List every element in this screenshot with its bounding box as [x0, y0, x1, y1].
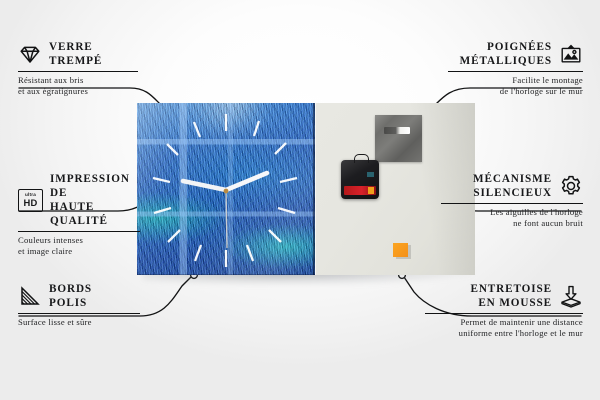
feature-divider: [18, 313, 140, 314]
feature-foam-spacer: ENTRETOISE EN MOUSSE Permet de maintenir…: [425, 282, 583, 338]
feature-high-quality-print: ultra HD IMPRESSION DE HAUTE QUALITÉ Cou…: [18, 172, 140, 256]
feature-description: Les aiguilles de l'horloge ne font aucun…: [441, 207, 583, 228]
feature-title: VERRE TREMPÉ: [49, 40, 102, 68]
feature-divider: [448, 71, 583, 72]
feature-tempered-glass: VERRE TREMPÉ Résistant aux bris et aux é…: [18, 40, 138, 96]
feature-title: MÉCANISME SILENCIEUX: [473, 172, 552, 200]
ultra-hd-icon-main-label: HD: [24, 198, 38, 207]
feature-divider: [441, 203, 583, 204]
feature-description: Facilite le montage de l'horloge sur le …: [448, 75, 583, 96]
feature-divider: [18, 231, 140, 232]
feature-title: POIGNÉES MÉTALLIQUES: [460, 40, 552, 68]
feature-description: Couleurs intenses et image claire: [18, 235, 140, 256]
feature-description: Résistant aux bris et aux égratignures: [18, 75, 138, 96]
hanging-frame-icon: [559, 42, 583, 66]
feature-title: ENTRETOISE EN MOUSSE: [470, 282, 552, 310]
feature-description: Surface lisse et sûre: [18, 317, 140, 328]
product-photo: [137, 103, 475, 275]
diamond-icon: [18, 42, 42, 66]
clock-edge: [137, 103, 315, 275]
gear-icon: [559, 174, 583, 198]
infographic-canvas: VERRE TREMPÉ Résistant aux bris et aux é…: [0, 0, 600, 400]
feature-metal-handles: POIGNÉES MÉTALLIQUES Facilite le montage…: [448, 40, 583, 96]
polished-edge-icon: [18, 284, 42, 308]
clock-face: [137, 103, 315, 275]
feature-title: BORDS POLIS: [49, 282, 92, 310]
feature-divider: [18, 71, 138, 72]
feature-divider: [425, 313, 583, 314]
ultra-hd-icon: ultra HD: [18, 189, 43, 212]
feature-polished-edges: BORDS POLIS Surface lisse et sûre: [18, 282, 140, 328]
down-arrow-pad-icon: [559, 284, 583, 308]
feature-title: IMPRESSION DE HAUTE QUALITÉ: [50, 172, 140, 228]
feature-description: Permet de maintenir une distance uniform…: [425, 317, 583, 338]
feature-silent-mechanism: MÉCANISME SILENCIEUX Les aiguilles de l'…: [441, 172, 583, 228]
